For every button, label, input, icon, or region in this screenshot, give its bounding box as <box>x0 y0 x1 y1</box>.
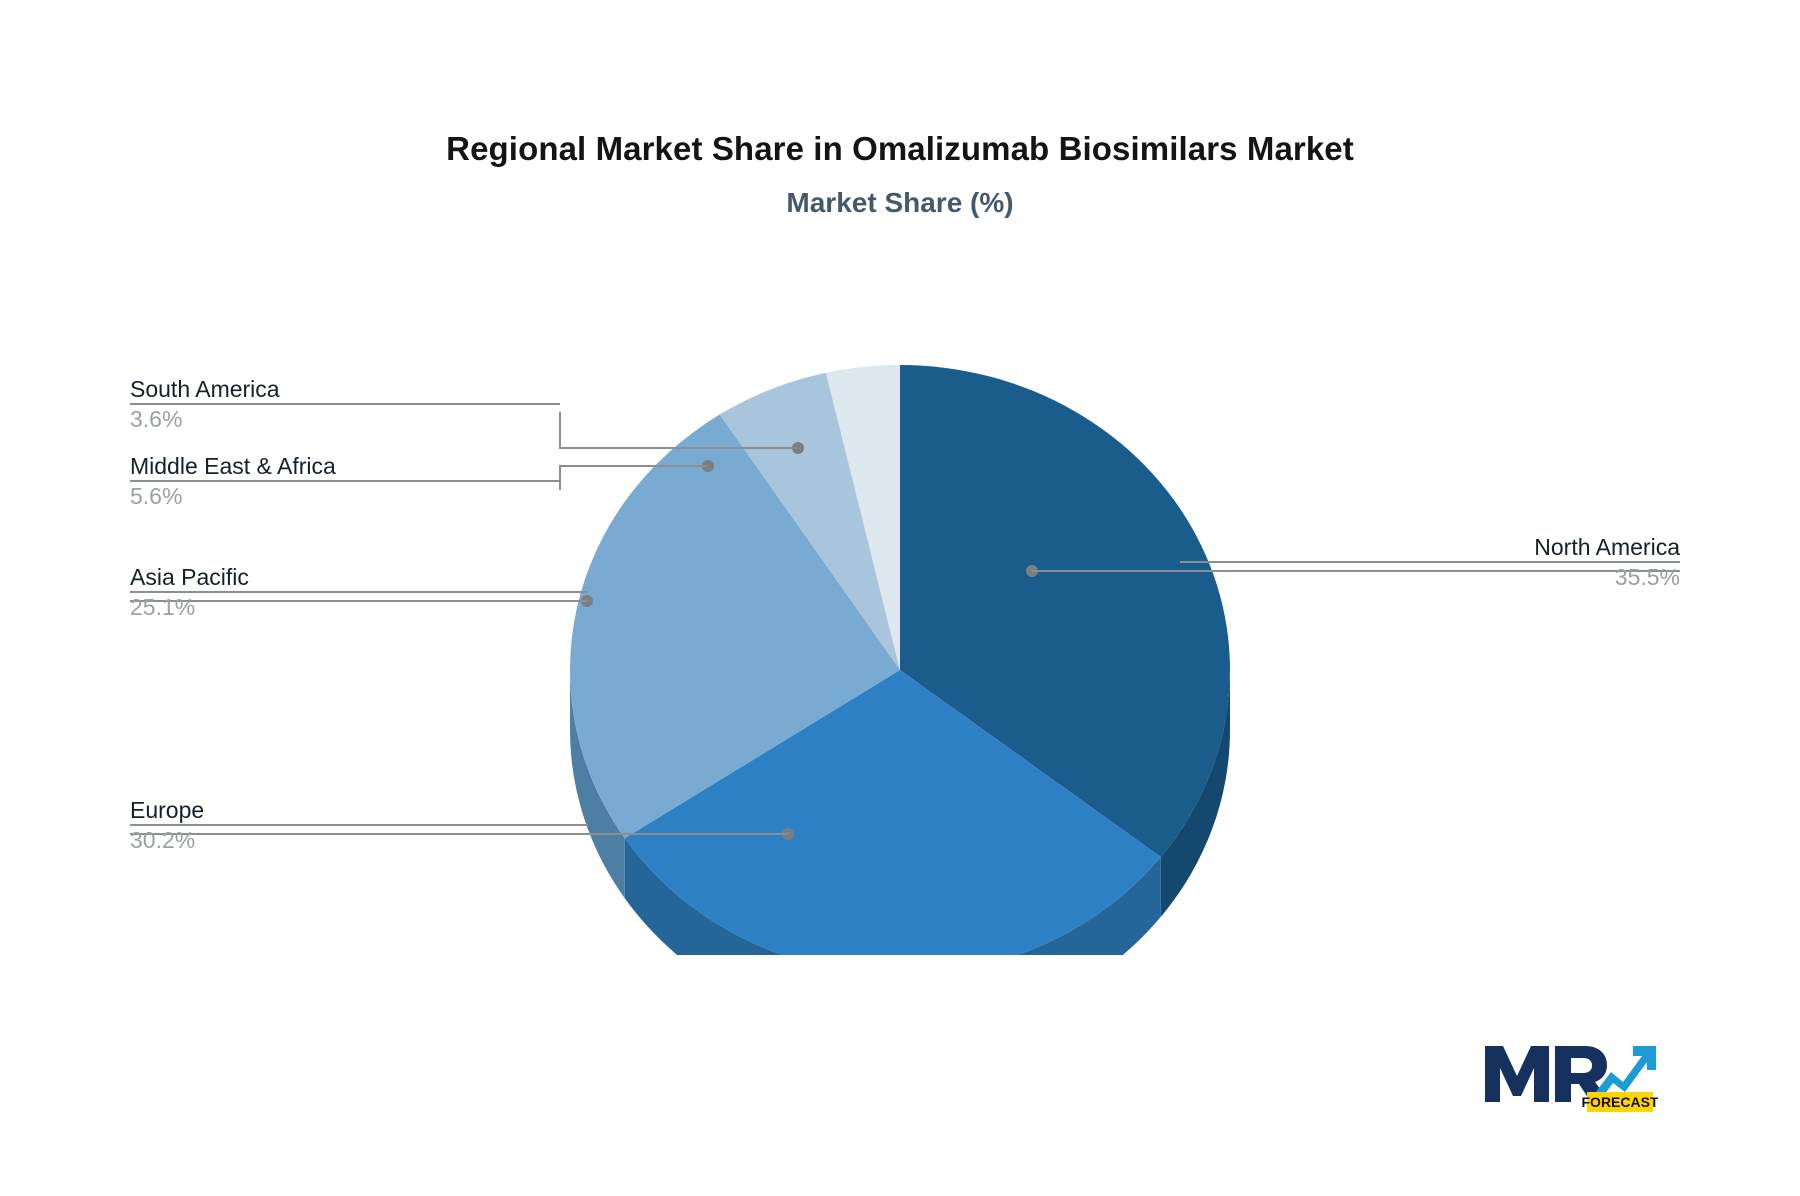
callout-asia-pacific[interactable]: Asia Pacific 25.1% <box>130 563 588 621</box>
logo-letter-m <box>1485 1046 1549 1102</box>
callout-value-middle-east-africa: 5.6% <box>130 482 560 510</box>
callout-value-south-america: 3.6% <box>130 405 560 433</box>
callout-value-europe: 30.2% <box>130 826 588 854</box>
callout-value-asia-pacific: 25.1% <box>130 593 588 621</box>
chart-title: Regional Market Share in Omalizumab Bios… <box>0 130 1800 168</box>
callout-north-america[interactable]: North America 35.5% <box>1180 533 1680 591</box>
callout-dot-middle-east-africa <box>702 460 714 472</box>
chart-canvas: Regional Market Share in Omalizumab Bios… <box>0 0 1800 1196</box>
pie-chart <box>565 365 1235 955</box>
callout-dot-europe <box>782 828 794 840</box>
logo-badge-text: FORECAST <box>1582 1094 1659 1110</box>
callout-south-america[interactable]: South America 3.6% <box>130 375 560 433</box>
logo-svg: FORECAST <box>1483 1040 1658 1122</box>
callout-europe[interactable]: Europe 30.2% <box>130 796 588 854</box>
callout-dot-north-america <box>1026 565 1038 577</box>
callout-label-europe: Europe <box>130 796 588 824</box>
callout-value-north-america: 35.5% <box>1180 563 1680 591</box>
pie-svg <box>565 365 1235 955</box>
callout-label-north-america: North America <box>1180 533 1680 561</box>
callout-label-middle-east-africa: Middle East & Africa <box>130 452 560 480</box>
callout-dot-south-america <box>792 442 804 454</box>
callout-label-asia-pacific: Asia Pacific <box>130 563 588 591</box>
mr-forecast-logo: FORECAST <box>1483 1040 1658 1122</box>
chart-subtitle: Market Share (%) <box>0 187 1800 219</box>
callout-middle-east-africa[interactable]: Middle East & Africa 5.6% <box>130 452 560 510</box>
callout-label-south-america: South America <box>130 375 560 403</box>
